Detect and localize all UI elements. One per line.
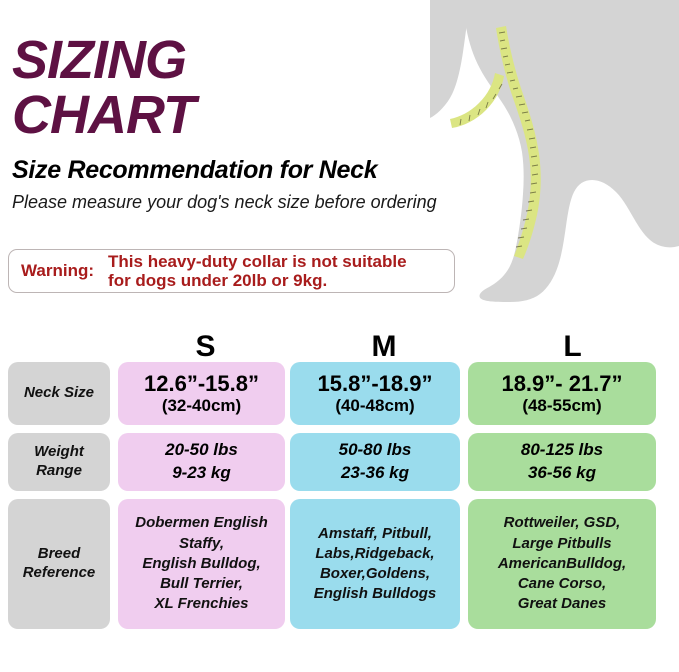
neck-size-large-cm: (48-55cm) [522, 396, 601, 416]
neck-size-small: 12.6”-15.8” (32-40cm) [118, 362, 285, 425]
breed-reference-medium-value: Amstaff, Pitbull, Labs,Ridgeback, Boxer,… [314, 524, 437, 605]
weight-range-medium: 50-80 lbs 23-36 kg [290, 433, 460, 491]
table-row-breed-reference: Breed Reference Dobermen English Staffy,… [0, 499, 679, 629]
page-title-line1: SIZING [12, 34, 482, 87]
table-header-row: S M L [0, 330, 679, 362]
neck-size-large: 18.9”- 21.7” (48-55cm) [468, 362, 656, 425]
breed-reference-large-value: Rottweiler, GSD, Large Pitbulls American… [498, 513, 626, 614]
warning-box: Warning: This heavy-duty collar is not s… [8, 249, 455, 293]
neck-size-small-inches: 12.6”-15.8” [144, 372, 259, 396]
neck-size-large-inches: 18.9”- 21.7” [501, 372, 622, 396]
warning-label: Warning: [21, 261, 94, 281]
warning-text: This heavy-duty collar is not suitable f… [108, 252, 407, 290]
row-label-breed-reference: Breed Reference [8, 499, 110, 629]
weight-range-large-value: 80-125 lbs 36-56 kg [521, 439, 603, 485]
row-label-weight-range: Weight Range [8, 433, 110, 491]
breed-reference-medium: Amstaff, Pitbull, Labs,Ridgeback, Boxer,… [290, 499, 460, 629]
breed-reference-large: Rottweiler, GSD, Large Pitbulls American… [468, 499, 656, 629]
measure-instruction: Please measure your dog's neck size befo… [12, 192, 482, 213]
neck-size-medium-inches: 15.8”-18.9” [318, 372, 433, 396]
weight-range-small: 20-50 lbs 9-23 kg [118, 433, 285, 491]
row-label-neck-size: Neck Size [8, 362, 110, 425]
page-subtitle: Size Recommendation for Neck [12, 156, 482, 185]
weight-range-medium-value: 50-80 lbs 23-36 kg [339, 439, 412, 485]
table-row-neck-size: Neck Size 12.6”-15.8” (32-40cm) 15.8”-18… [0, 362, 679, 425]
header-size-m: M [298, 332, 470, 362]
weight-range-small-value: 20-50 lbs 9-23 kg [165, 439, 238, 485]
table-row-weight-range: Weight Range 20-50 lbs 9-23 kg 50-80 lbs… [0, 433, 679, 491]
header-size-l: L [478, 332, 667, 362]
header-size-s: S [118, 332, 293, 362]
neck-size-small-cm: (32-40cm) [162, 396, 241, 416]
header-block: SIZING CHART Size Recommendation for Nec… [12, 34, 482, 213]
neck-size-medium: 15.8”-18.9” (40-48cm) [290, 362, 460, 425]
breed-reference-small: Dobermen English Staffy, English Bulldog… [118, 499, 285, 629]
neck-size-medium-cm: (40-48cm) [335, 396, 414, 416]
size-table: S M L Neck Size 12.6”-15.8” (32-40cm) 15… [0, 330, 679, 637]
page-title-line2: CHART [12, 89, 482, 142]
weight-range-large: 80-125 lbs 36-56 kg [468, 433, 656, 491]
breed-reference-small-value: Dobermen English Staffy, English Bulldog… [135, 513, 268, 614]
